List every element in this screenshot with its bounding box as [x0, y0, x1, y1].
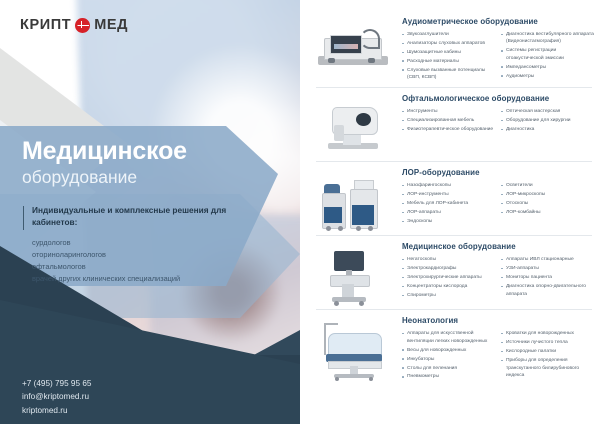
list-item: Эндоскопы	[402, 218, 495, 225]
section-title: ЛОР-оборудование	[402, 168, 594, 177]
logo-text-left: КРИПТ	[20, 17, 71, 33]
list-item: Анализаторы слуховых аппаратов	[402, 40, 495, 47]
cover-headline: Медицинское оборудование	[22, 138, 272, 187]
list-item: Отоскопы	[501, 200, 594, 207]
list-item: Пневмометры	[402, 373, 495, 380]
company-logo[interactable]: КРИПТ МЕД	[20, 17, 128, 33]
contact-phone[interactable]: +7 (495) 795 95 65	[22, 377, 91, 390]
cover-lead-text: Индивидуальные и комплексные решения для…	[32, 204, 262, 229]
list-item: Звукозаглушители	[402, 31, 495, 38]
list-item: ЛОР-комбайны	[501, 209, 594, 216]
list-item: Кроватки для новорожденных	[501, 330, 594, 337]
section-title: Офтальмологическое оборудование	[402, 94, 594, 103]
audiometer-console-photo	[310, 18, 396, 80]
list-item: Оптическая мастерская	[501, 108, 594, 115]
list-item: Диагностика вестибулярного аппарата (Вид…	[501, 31, 594, 46]
list-item: Назофарингоскопы	[402, 182, 495, 189]
ultrasound-cart-photo	[310, 243, 396, 305]
section-column-right: Диагностика вестибулярного аппарата (Вид…	[501, 31, 594, 83]
list-item: Системы регистрации отоакустической эмис…	[501, 47, 594, 62]
list-item: Инкубаторы	[402, 356, 495, 363]
list-item: Инструменты	[402, 108, 495, 115]
list-item: ЛОР-аппараты	[402, 209, 495, 216]
ent-workstation-photo	[310, 169, 396, 231]
list-item: Аппараты для искусственной вентиляции ле…	[402, 330, 495, 345]
section-title: Неонатология	[402, 316, 594, 325]
list-item: Весы для новорожденных	[402, 347, 495, 354]
list-item: УЗИ-аппараты	[501, 265, 594, 272]
brochure-page: КРИПТ МЕД Медицинское оборудование Индив…	[0, 0, 600, 424]
list-item: Электрокардиографы	[402, 265, 495, 272]
contact-block: +7 (495) 795 95 65 info@kriptomed.ru kri…	[22, 377, 91, 417]
cover-panel: КРИПТ МЕД Медицинское оборудование Индив…	[0, 0, 300, 424]
pulse-heart-icon	[75, 18, 90, 33]
list-item: Импедансометры	[501, 64, 594, 71]
section-column-right: Кроватки для новорожденных Источники луч…	[501, 330, 594, 382]
list-item: Концентраторы кислорода	[402, 283, 495, 290]
section-column-left: Звукозаглушители Анализаторы слуховых ап…	[402, 31, 495, 83]
page-subtitle: оборудование	[22, 168, 272, 187]
list-item: Мебель для ЛОР-кабинета	[402, 200, 495, 207]
list-item: Спирометры	[402, 292, 495, 299]
list-item: ЛОР-инструменты	[402, 191, 495, 198]
list-item: Шумозащитные кабины	[402, 49, 495, 56]
catalog-section-audiometry[interactable]: Аудиометрическое оборудование Звукозаглу…	[308, 10, 596, 87]
list-item: Аппараты ИВЛ стационарные	[501, 256, 594, 263]
catalog-panel: Аудиометрическое оборудование Звукозаглу…	[300, 0, 600, 424]
list-item: Мониторы пациента	[501, 274, 594, 281]
page-title: Медицинское	[22, 138, 272, 165]
logo-text-right: МЕД	[94, 17, 128, 33]
list-item: Осветители	[501, 182, 594, 189]
contact-website[interactable]: kriptomed.ru	[22, 404, 91, 417]
list-item: Физиотерапевтическое оборудование	[402, 126, 495, 133]
list-item: сурдологов	[32, 237, 262, 249]
list-item: Электрохирургические аппараты	[402, 274, 495, 281]
list-item: Приборы для определения транскутанного б…	[501, 357, 594, 379]
section-column-right: Оптическая мастерская Оборудование для х…	[501, 108, 594, 135]
infant-incubator-photo	[310, 317, 396, 379]
list-item: Оборудование для хирургии	[501, 117, 594, 124]
catalog-sections: Аудиометрическое оборудование Звукозаглу…	[308, 10, 596, 386]
catalog-section-neonatology[interactable]: Неонатология Аппараты для искусственной …	[308, 309, 596, 386]
catalog-section-medical[interactable]: Медицинское оборудование Негатоскопы Эле…	[308, 235, 596, 309]
list-item: Источники лучистого тепла	[501, 339, 594, 346]
list-item: Диагностика	[501, 126, 594, 133]
list-item: Столы для пеленания	[402, 365, 495, 372]
catalog-section-ophthalmology[interactable]: Офтальмологическое оборудование Инструме…	[308, 87, 596, 161]
section-column-left: Инструменты Специализированная мебель Фи…	[402, 108, 495, 135]
section-column-left: Негатоскопы Электрокардиографы Электрохи…	[402, 256, 495, 301]
section-column-left: Назофарингоскопы ЛОР-инструменты Мебель …	[402, 182, 495, 227]
list-item: Диагностика опорно-двигательного аппарат…	[501, 283, 594, 298]
list-item: Расходные материалы	[402, 58, 495, 65]
audience-list: сурдологов оториноларингологов офтальмол…	[32, 237, 262, 285]
section-title: Медицинское оборудование	[402, 242, 594, 251]
section-column-left: Аппараты для искусственной вентиляции ле…	[402, 330, 495, 382]
list-item: врачей других клинических специализаций	[32, 273, 262, 285]
list-item: Аудиометры	[501, 73, 594, 80]
list-item: Негатоскопы	[402, 256, 495, 263]
list-item: Кислородные палатки	[501, 348, 594, 355]
contact-email[interactable]: info@kriptomed.ru	[22, 390, 91, 403]
cover-lead-block: Индивидуальные и комплексные решения для…	[23, 204, 262, 285]
list-item: офтальмологов	[32, 261, 262, 273]
catalog-section-ent[interactable]: ЛОР-оборудование Назофарингоскопы ЛОР-ин…	[308, 161, 596, 235]
list-item: Специализированная мебель	[402, 117, 495, 124]
list-item: оториноларингологов	[32, 249, 262, 261]
section-column-right: Аппараты ИВЛ стационарные УЗИ-аппараты М…	[501, 256, 594, 301]
section-title: Аудиометрическое оборудование	[402, 17, 594, 26]
ophthalmic-refractometer-photo	[310, 95, 396, 157]
list-item: Слуховые вызванные потенциалы (СВП, КСВП…	[402, 67, 495, 82]
section-column-right: Осветители ЛОР-микроскопы Отоскопы ЛОР-к…	[501, 182, 594, 227]
list-item: ЛОР-микроскопы	[501, 191, 594, 198]
